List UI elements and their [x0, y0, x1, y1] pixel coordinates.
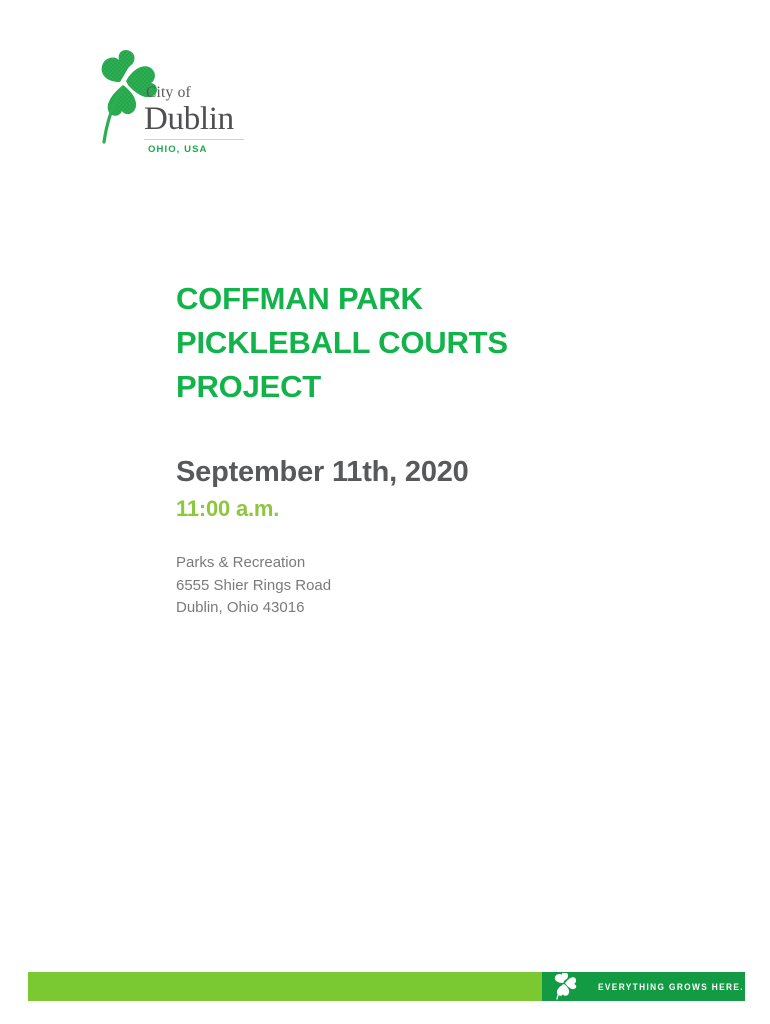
document-content: COFFMAN PARK PICKLEBALL COURTS PROJECT S…	[176, 277, 696, 620]
venue-department: Parks & Recreation	[176, 552, 696, 575]
venue-city-state-zip: Dublin, Ohio 43016	[176, 597, 696, 620]
footer-accent-bar	[28, 972, 542, 1001]
logo-state-label: OHIO, USA	[148, 144, 248, 155]
page-title: COFFMAN PARK PICKLEBALL COURTS PROJECT	[176, 277, 566, 409]
venue-address: Parks & Recreation 6555 Shier Rings Road…	[176, 522, 696, 620]
footer-tagline: EVERYTHING GROWS HERE.	[598, 982, 744, 992]
venue-street: 6555 Shier Rings Road	[176, 575, 696, 598]
logo-name-label: Dublin	[144, 103, 248, 137]
event-date: September 11th, 2020	[176, 409, 696, 490]
page-footer: EVERYTHING GROWS HERE.	[28, 972, 745, 1001]
city-of-dublin-logo: City of Dublin OHIO, USA	[96, 48, 246, 158]
footer-brand-panel: EVERYTHING GROWS HERE.	[542, 972, 745, 1001]
shamrock-icon	[552, 973, 578, 1000]
event-time: 11:00 a.m.	[176, 490, 696, 522]
logo-wordmark: City of Dublin OHIO, USA	[144, 84, 248, 155]
logo-city-label: City of	[146, 84, 191, 101]
logo-divider	[144, 139, 244, 140]
